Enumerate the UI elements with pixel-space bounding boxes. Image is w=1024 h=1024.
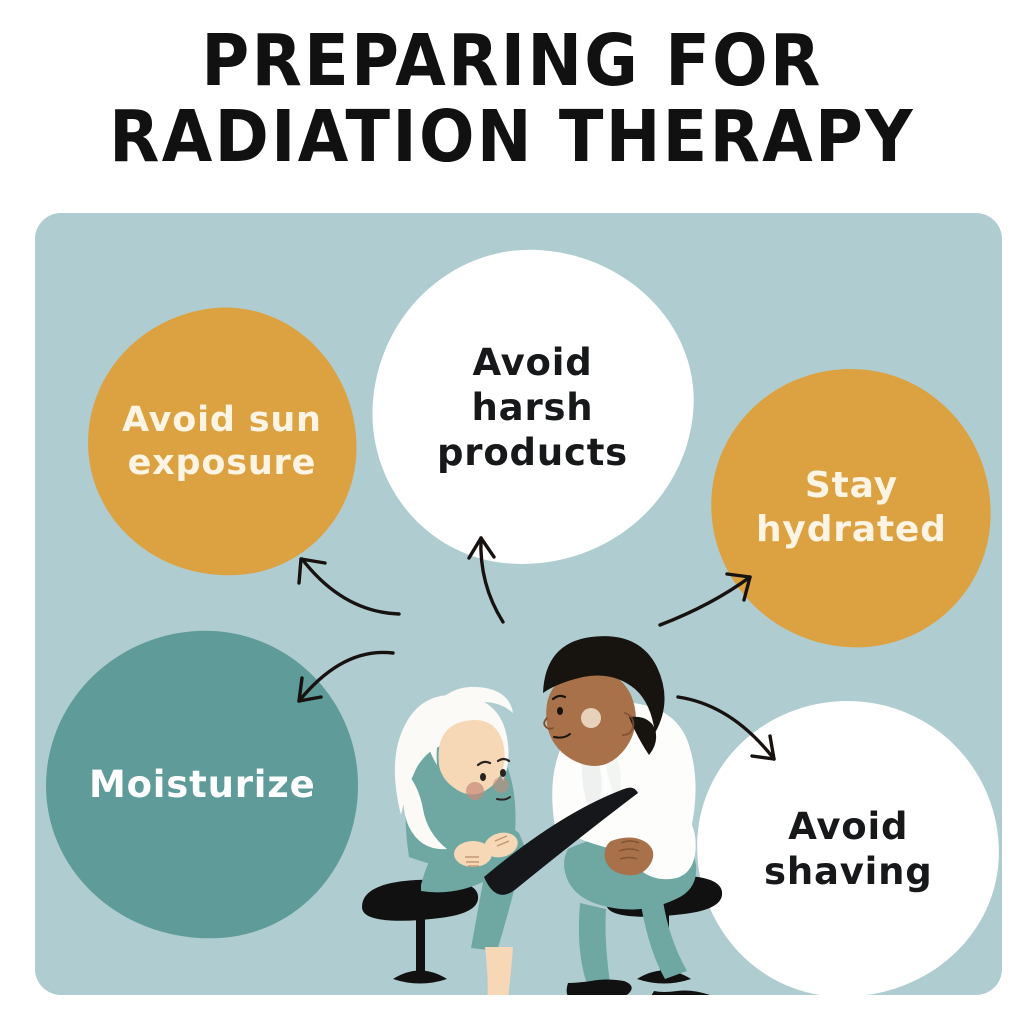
stool-patient-icon — [362, 880, 478, 984]
figure-clinician — [484, 636, 722, 995]
figure-patient — [362, 687, 541, 995]
content-panel: Avoid sun exposure Avoid harsh products … — [35, 213, 1002, 995]
page-title: PREPARING FOR RADIATION THERAPY — [0, 26, 1024, 171]
title-line-2: RADIATION THERAPY — [41, 102, 983, 172]
infographic-root: PREPARING FOR RADIATION THERAPY Avoid su… — [0, 0, 1024, 1024]
illustration-consultation — [35, 213, 1002, 995]
title-line-1: PREPARING FOR — [41, 26, 983, 96]
